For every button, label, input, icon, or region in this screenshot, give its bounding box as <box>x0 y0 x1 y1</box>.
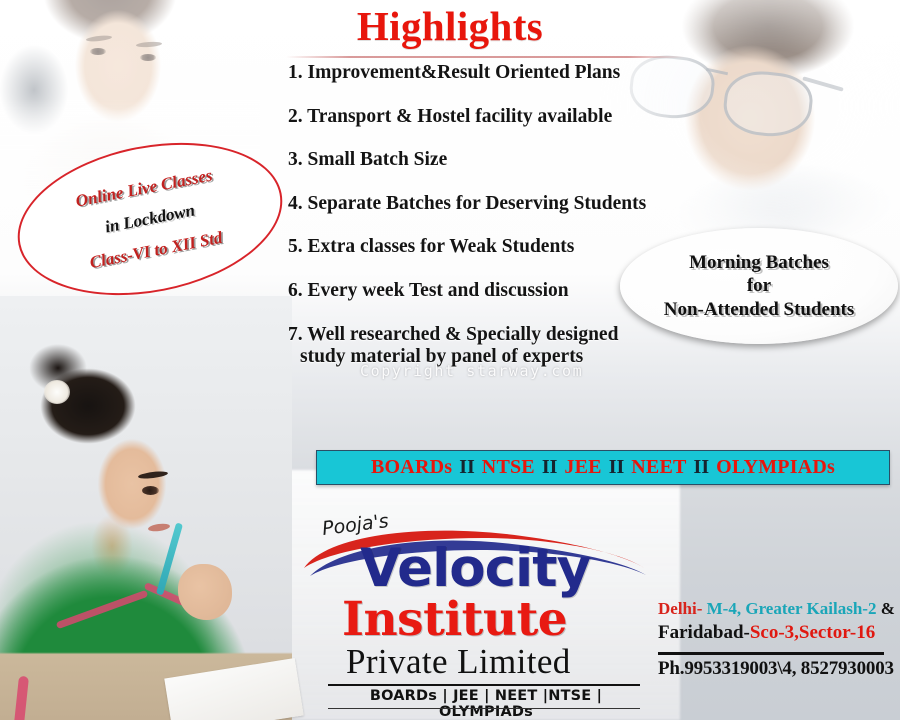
promotional-poster: Highlights 1. Improvement&Result Oriente… <box>0 0 900 720</box>
highlight-item: 1. Improvement&Result Oriented Plans <box>288 62 718 85</box>
address-detail-faridabad: Sco-3,Sector-16 <box>750 622 875 643</box>
logo-divider-top <box>328 684 640 686</box>
page-title: Highlights <box>0 2 900 50</box>
address-ampersand: & <box>876 599 894 618</box>
decorative-detail <box>142 486 159 495</box>
logo-divider-bottom <box>328 708 640 709</box>
eyeglasses-icon <box>721 68 815 141</box>
highlight-item-text: 2. Transport & Hostel facility available <box>288 106 612 127</box>
copyright-watermark: Copyright starway.com <box>360 362 583 380</box>
highlight-item: 2. Transport & Hostel facility available <box>288 106 718 129</box>
callout-morning-line-1: Morning Batches <box>664 251 855 274</box>
exam-name: OLYMPIADs <box>716 456 835 479</box>
highlight-item: 3. Small Batch Size <box>288 149 718 172</box>
exam-separator: II <box>602 456 632 479</box>
logo-suffix: Private Limited <box>346 644 571 679</box>
callout-morning-batches: Morning Batches for Non-Attended Student… <box>620 228 898 344</box>
highlight-item-text: 4. Separate Batches for Deserving Studen… <box>288 193 646 214</box>
highlight-item-text: 5. Extra classes for Weak Students <box>288 236 574 257</box>
exam-separator: II <box>687 456 717 479</box>
highlight-item: 4. Separate Batches for Deserving Studen… <box>288 193 718 216</box>
highlight-item-text: 3. Small Batch Size <box>288 149 447 170</box>
phone-numbers: Ph.9953319003\4, 8527930003 <box>658 658 898 680</box>
highlight-item-text: 6. Every week Test and discussion <box>288 280 569 301</box>
decorative-detail <box>144 582 211 617</box>
address-detail-delhi: M-4, Greater Kailash-2 <box>702 599 876 618</box>
exam-separator: II <box>535 456 565 479</box>
highlight-item-text: 1. Improvement&Result Oriented Plans <box>288 62 620 83</box>
contact-address-block: Delhi- M-4, Greater Kailash-2 & Faridaba… <box>658 598 898 680</box>
callout-online-live-classes: Online Live Classes in Lockdown Class-VI… <box>5 122 296 316</box>
decorative-detail <box>56 590 149 629</box>
company-logo: Pooja's Velocity Institute Private Limit… <box>296 512 648 708</box>
decorative-detail <box>44 380 70 404</box>
logo-name: Velocity <box>360 542 590 595</box>
decorative-detail <box>178 564 232 620</box>
decorative-detail <box>9 676 29 720</box>
highlights-list: 1. Improvement&Result Oriented Plans2. T… <box>288 62 718 390</box>
exam-programs-banner: BOARDsIINTSEIIJEEIINEETIIOLYMPIADs <box>316 450 890 485</box>
decorative-detail <box>138 470 169 480</box>
address-line-2: Faridabad-Sco-3,Sector-16 <box>658 621 898 646</box>
pen-icon <box>156 522 183 595</box>
callout-morning-line-3: Non-Attended Students <box>664 298 855 321</box>
highlight-item-text: 7. Well researched & Specially designed <box>288 324 618 345</box>
decorative-detail <box>140 54 156 61</box>
exam-name: BOARDs <box>371 456 452 479</box>
exam-name: JEE <box>564 456 601 479</box>
address-city-delhi: Delhi- <box>658 599 702 618</box>
logo-type: Institute <box>342 596 567 643</box>
decorative-detail <box>148 523 171 533</box>
address-divider <box>658 652 884 655</box>
decorative-detail <box>802 76 843 91</box>
address-line-1: Delhi- M-4, Greater Kailash-2 & <box>658 598 898 619</box>
decorative-detail <box>164 658 303 720</box>
student-photo-bottom-left <box>0 296 292 720</box>
exam-name: NEET <box>631 456 686 479</box>
exam-separator: II <box>452 456 482 479</box>
exam-name: NTSE <box>482 456 535 479</box>
callout-morning-line-2: for <box>664 274 855 297</box>
address-city-faridabad: Faridabad- <box>658 622 750 643</box>
logo-tagline: BOARDs | JEE | NEET |NTSE | OLYMPIADs <box>330 688 642 720</box>
title-divider <box>286 56 684 58</box>
